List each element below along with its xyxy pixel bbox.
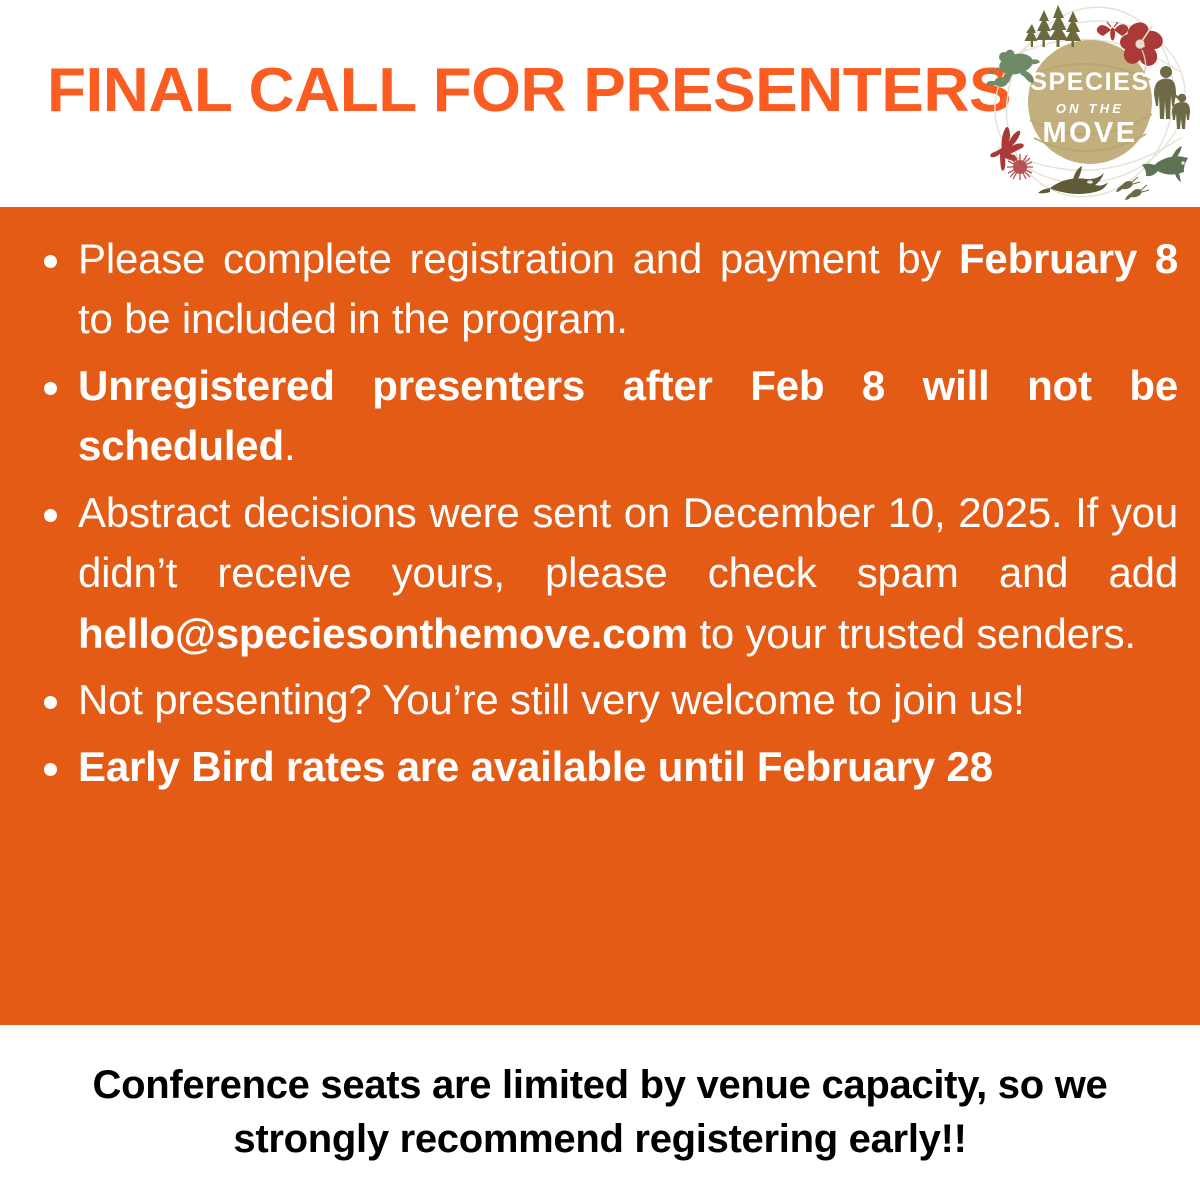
logo-line-species: SPECIES xyxy=(1030,68,1150,96)
bullet-early-bird: Early Bird rates are available until Feb… xyxy=(22,737,1178,797)
footer-note: Conference seats are limited by venue ca… xyxy=(45,1059,1155,1166)
header-section: FINAL CALL FOR PRESENTERS xyxy=(0,0,1200,207)
bullet-text-part: to be included in the program. xyxy=(78,295,628,342)
bullet-list: Please complete registration and payment… xyxy=(22,229,1178,797)
bullet-text-bold: Unregistered presenters after Feb 8 will… xyxy=(78,362,1178,469)
bullet-text-bold: February 8 xyxy=(959,235,1178,282)
bullet-text-part: Please complete registration and payment… xyxy=(78,235,959,282)
bullet-not-presenting: Not presenting? You’re still very welcom… xyxy=(22,670,1178,730)
fish-icon xyxy=(1142,146,1188,182)
bullets-panel: Please complete registration and payment… xyxy=(0,207,1200,1025)
krill-icon xyxy=(1116,177,1149,200)
logo-line-move: MOVE xyxy=(1043,117,1138,149)
bullet-abstract-decisions: Abstract decisions were sent on December… xyxy=(22,483,1178,664)
logo-line-on-the: ON THE xyxy=(1056,101,1124,116)
page-title: FINAL CALL FOR PRESENTERS xyxy=(47,60,1011,122)
bullet-text-part: . xyxy=(284,422,295,469)
bullet-registration-deadline: Please complete registration and payment… xyxy=(22,229,1178,350)
bullet-text-part: to your trusted senders. xyxy=(688,610,1136,657)
contact-email[interactable]: hello@speciesonthemove.com xyxy=(78,610,688,657)
bullet-text-bold: Early Bird rates are available until Feb… xyxy=(78,743,993,790)
species-on-the-move-logo: SPECIES ON THE MOVE xyxy=(972,2,1200,207)
bullet-text-part: Abstract decisions were sent on December… xyxy=(78,489,1178,596)
footer-section: Conference seats are limited by venue ca… xyxy=(0,1025,1200,1200)
bullet-text-part: Not presenting? You’re still very welcom… xyxy=(78,676,1025,723)
bullet-unregistered-presenters: Unregistered presenters after Feb 8 will… xyxy=(22,356,1178,477)
poster-root: FINAL CALL FOR PRESENTERS xyxy=(0,0,1200,1200)
